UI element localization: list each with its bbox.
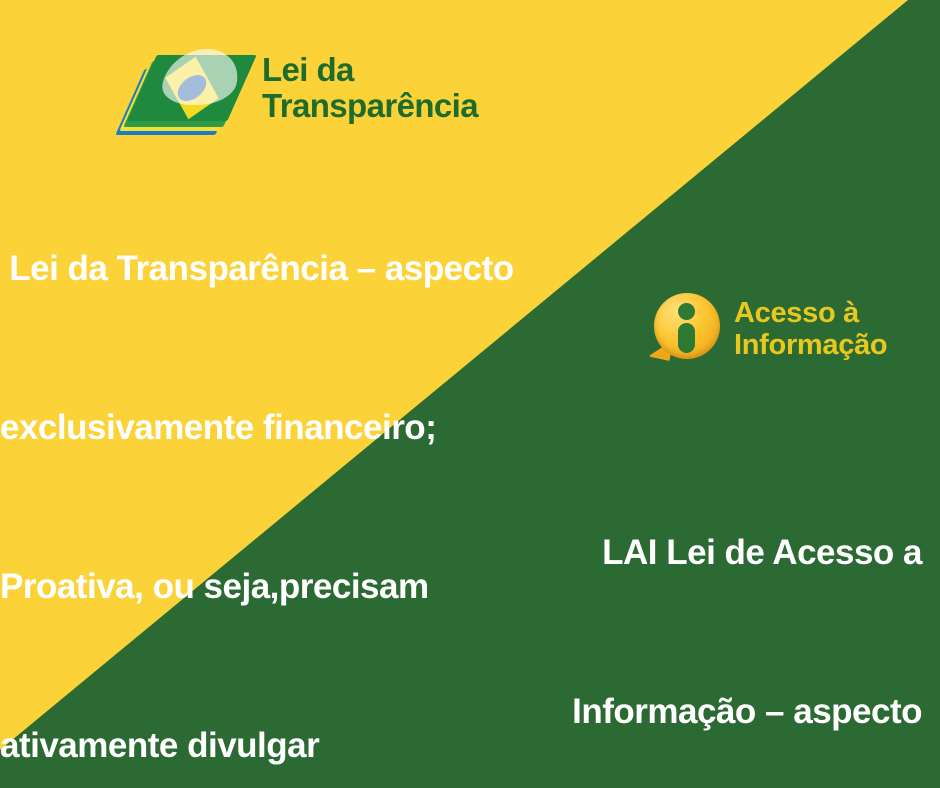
- logo-lei-da-transparencia: Lei da Transparência: [128, 38, 508, 138]
- logo-acesso-a-informacao: Acesso à Informação: [648, 287, 938, 373]
- brazil-flag-stack-icon: [128, 39, 248, 137]
- right-description-text: LAI Lei de Acesso a Informação – aspecto…: [222, 420, 922, 788]
- left-line-1: Lei da Transparência – aspecto: [0, 242, 660, 295]
- letter-i-dot: [678, 303, 695, 320]
- right-line-1: LAI Lei de Acesso a: [222, 526, 922, 579]
- logo-transparencia-wordmark: Lei da Transparência: [262, 52, 478, 123]
- flag-sheet-top: [127, 55, 256, 121]
- letter-i-stem: [678, 323, 695, 353]
- information-speech-bubble-icon: [648, 291, 722, 369]
- poster-canvas: Lei da Transparência Lei da Transparênci…: [0, 0, 940, 788]
- logo-acesso-line1: Acesso à: [734, 298, 887, 330]
- right-line-2: Informação – aspecto: [222, 685, 922, 738]
- logo-acesso-line2: Informação: [734, 330, 887, 362]
- logo-acesso-wordmark: Acesso à Informação: [734, 298, 887, 362]
- logo-transparencia-line2: Transparência: [262, 88, 478, 124]
- logo-transparencia-line1: Lei da: [262, 52, 478, 88]
